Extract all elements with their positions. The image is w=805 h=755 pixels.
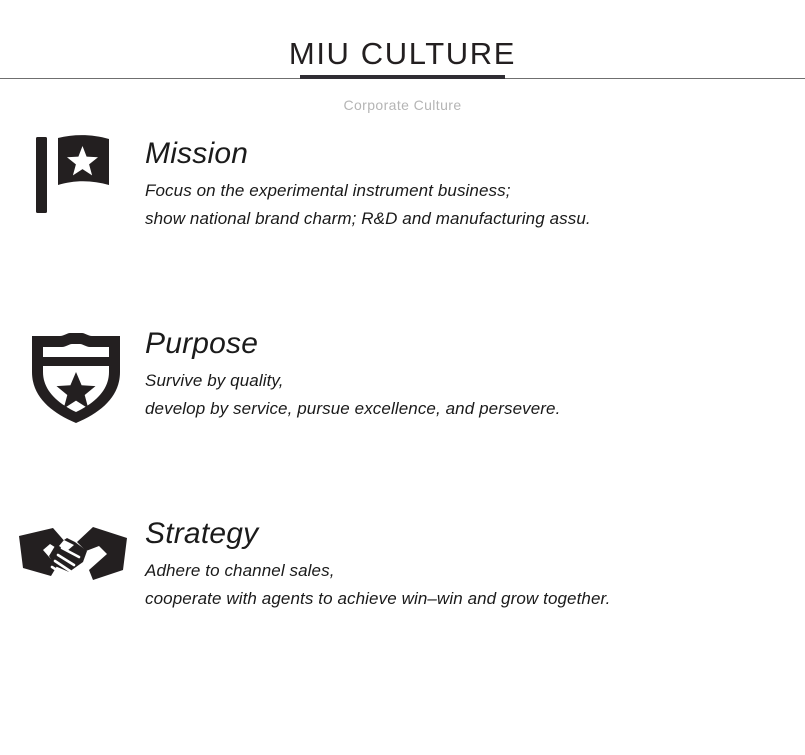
- shield-star-badge-icon: [26, 328, 136, 428]
- section-line: Focus on the experimental instrument bus…: [145, 177, 785, 205]
- section-body: Strategy Adhere to channel sales, cooper…: [145, 515, 785, 613]
- section-line: Survive by quality,: [145, 367, 785, 395]
- section-line: develop by service, pursue excellence, a…: [145, 395, 785, 423]
- handshake-icon: [17, 524, 127, 624]
- section-body: Purpose Survive by quality, develop by s…: [145, 325, 785, 423]
- section-line: cooperate with agents to achieve win–win…: [145, 585, 785, 613]
- section-mission: Mission Focus on the experimental instru…: [0, 130, 805, 280]
- flag-star-icon: [20, 135, 130, 235]
- section-purpose: Purpose Survive by quality, develop by s…: [0, 320, 805, 470]
- section-line: show national brand charm; R&D and manuf…: [145, 205, 785, 233]
- section-body: Mission Focus on the experimental instru…: [145, 135, 785, 233]
- section-heading: Mission: [145, 135, 785, 173]
- page-header: MIU CULTURE Corporate Culture: [0, 0, 805, 130]
- page-subtitle: Corporate Culture: [0, 95, 805, 115]
- section-line: Adhere to channel sales,: [145, 557, 785, 585]
- page-title: MIU CULTURE: [0, 34, 805, 74]
- section-strategy: Strategy Adhere to channel sales, cooper…: [0, 510, 805, 660]
- section-heading: Purpose: [145, 325, 785, 363]
- section-heading: Strategy: [145, 515, 785, 553]
- header-accent-underline: [300, 75, 505, 79]
